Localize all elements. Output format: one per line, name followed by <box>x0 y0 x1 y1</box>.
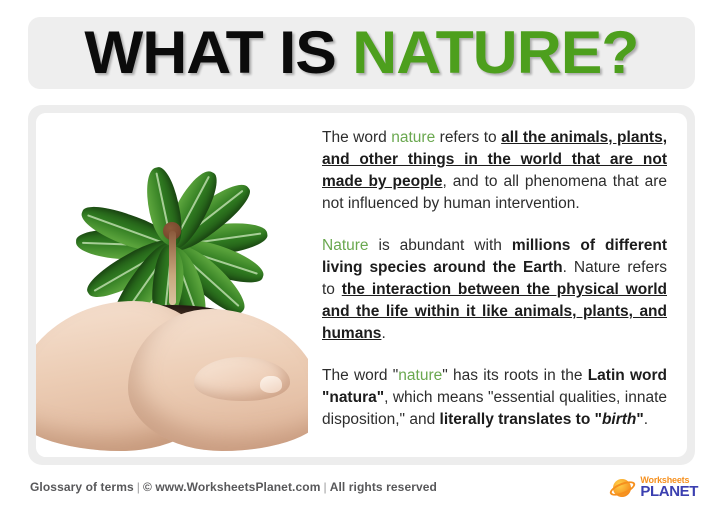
footer-copyright[interactable]: © www.WorksheetsPlanet.com <box>143 480 321 494</box>
footer-rights: All rights reserved <box>330 480 437 494</box>
paragraph-1: The word nature refers to all the animal… <box>322 127 667 215</box>
p3-highlight-nature: nature <box>398 367 442 384</box>
content-card: The word nature refers to all the animal… <box>28 105 695 465</box>
page-title-green: NATURE? <box>352 19 638 86</box>
p3-text-d: . <box>644 411 648 428</box>
footer-separator-1: | <box>134 480 143 494</box>
seedling-graphic <box>47 131 297 331</box>
p2-emphasis-underlined: the interaction between the physical wor… <box>322 281 667 342</box>
p2-highlight-nature: Nature <box>322 237 369 254</box>
content-card-inner: The word nature refers to all the animal… <box>36 113 687 457</box>
worksheets-planet-logo[interactable]: Worksheets PLANET <box>610 476 698 499</box>
p3-text-a: The word " <box>322 367 398 384</box>
footer-separator-2: | <box>320 480 329 494</box>
title-banner: WHAT IS NATURE? <box>28 17 695 89</box>
logo-wordmark: Worksheets PLANET <box>640 476 698 499</box>
planet-icon <box>610 477 636 499</box>
definition-text-column: The word nature refers to all the animal… <box>308 113 687 457</box>
page-title: WHAT IS NATURE? <box>84 23 638 83</box>
page-footer: Glossary of terms|© www.WorksheetsPlanet… <box>0 470 720 509</box>
p3-text-b: " has its roots in the <box>442 367 587 384</box>
plant-stem-icon <box>169 231 176 305</box>
paragraph-2: Nature is abundant with millions of diff… <box>322 235 667 345</box>
plant-in-hands-photo <box>36 113 308 457</box>
paragraph-3: The word "nature" has its roots in the L… <box>322 365 667 431</box>
p2-text-c: . <box>381 325 385 342</box>
p3-text-quote-close: " <box>636 411 643 428</box>
p1-highlight-nature: nature <box>391 129 435 146</box>
footer-credits: Glossary of terms|© www.WorksheetsPlanet… <box>30 480 437 494</box>
p3-emphasis-birth: birth <box>602 411 636 428</box>
worksheet-page: WHAT IS NATURE? <box>0 0 720 509</box>
p3-emphasis-translates: literally translates to " <box>440 411 602 428</box>
footer-glossary-label: Glossary of terms <box>30 480 134 494</box>
page-title-black: WHAT IS <box>84 19 352 86</box>
p1-text-a: The word <box>322 129 391 146</box>
p2-text-a: is abundant with <box>369 237 512 254</box>
thumbnail-graphic <box>260 376 282 393</box>
p1-text-b: refers to <box>435 129 501 146</box>
logo-planet-text: PLANET <box>640 484 698 499</box>
